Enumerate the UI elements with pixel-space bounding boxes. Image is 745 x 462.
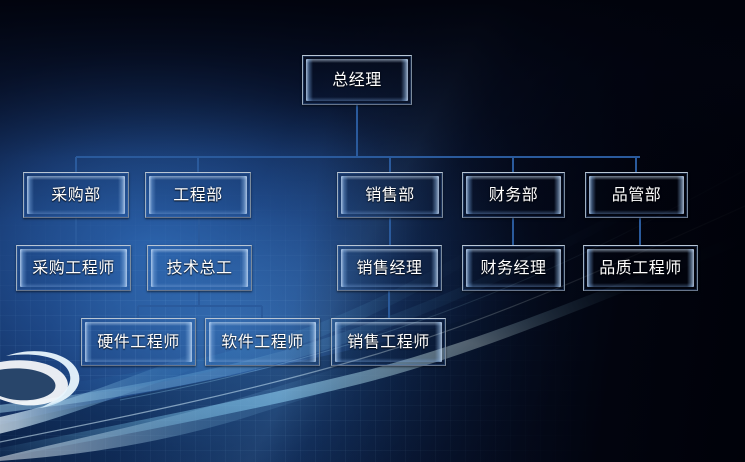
org-node-purchasing[interactable]: 采购部: [23, 172, 129, 218]
org-node-quality[interactable]: 品管部: [585, 172, 688, 218]
org-node-fin-mgr[interactable]: 财务经理: [462, 245, 565, 291]
org-node-label: 财务经理: [480, 260, 546, 276]
org-node-se-eng[interactable]: 销售工程师: [331, 318, 446, 366]
org-node-sw-eng[interactable]: 软件工程师: [205, 318, 320, 366]
slide-canvas: 总经理采购部工程部销售部财务部品管部采购工程师技术总工销售经理财务经理品质工程师…: [0, 0, 745, 462]
org-node-finance[interactable]: 财务部: [462, 172, 565, 218]
org-node-label: 采购部: [51, 187, 101, 203]
org-node-label: 软件工程师: [221, 334, 304, 350]
org-node-label: 品管部: [612, 187, 662, 203]
org-node-label: 销售部: [365, 187, 415, 203]
org-node-pur-eng[interactable]: 采购工程师: [16, 245, 131, 291]
org-node-label: 总经理: [332, 72, 382, 88]
org-node-label: 硬件工程师: [97, 334, 180, 350]
org-node-label: 工程部: [173, 187, 223, 203]
org-node-label: 销售经理: [356, 260, 422, 276]
org-node-engineering[interactable]: 工程部: [145, 172, 251, 218]
org-node-label: 品质工程师: [599, 260, 682, 276]
org-node-gm[interactable]: 总经理: [302, 55, 412, 105]
org-node-label: 技术总工: [166, 260, 232, 276]
org-node-sales-mgr[interactable]: 销售经理: [337, 245, 442, 291]
org-node-chief-eng[interactable]: 技术总工: [147, 245, 252, 291]
org-node-hw-eng[interactable]: 硬件工程师: [81, 318, 196, 366]
org-node-sales[interactable]: 销售部: [337, 172, 443, 218]
org-node-qa-eng[interactable]: 品质工程师: [583, 245, 698, 291]
org-chart: 总经理采购部工程部销售部财务部品管部采购工程师技术总工销售经理财务经理品质工程师…: [0, 0, 745, 462]
org-node-label: 财务部: [489, 187, 539, 203]
org-node-label: 采购工程师: [32, 260, 115, 276]
org-node-label: 销售工程师: [347, 334, 430, 350]
